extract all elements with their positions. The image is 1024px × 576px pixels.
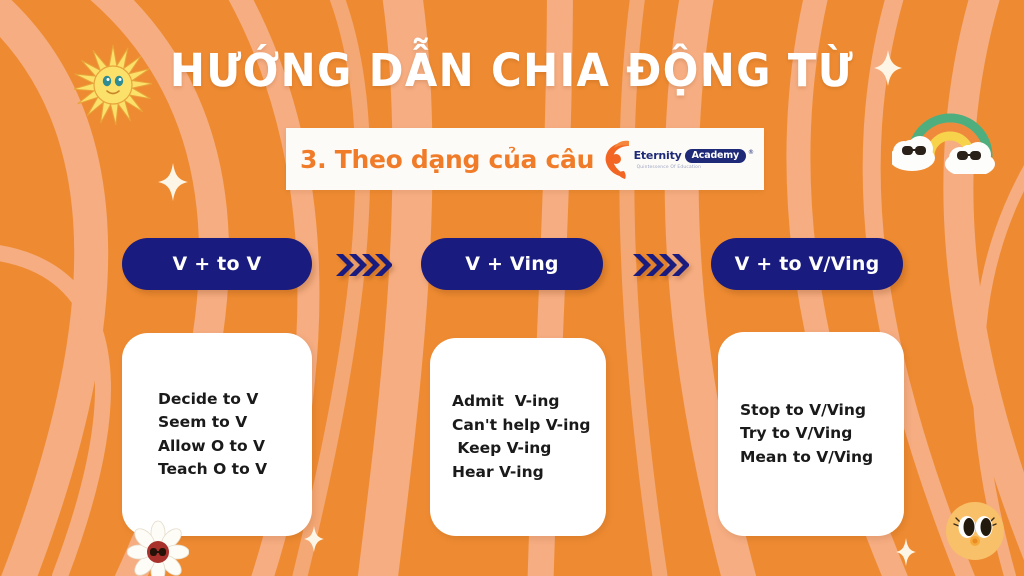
cloud-left [892, 136, 935, 171]
card-list-item: Hear V-ing [452, 461, 606, 485]
daisy-flower-icon [127, 518, 189, 576]
content-card-2: Admit V-ing Can't help V-ing Keep V-ing … [430, 338, 606, 536]
logo-sub-brand-pill: Academy [685, 149, 746, 163]
sparkle-star-icon [304, 526, 324, 552]
card-list-item: Stop to V/Ving [740, 399, 904, 423]
retro-face-icon [942, 498, 1008, 564]
category-pill-1[interactable]: V + to V [122, 238, 312, 290]
subtitle-text: 3. Theo dạng của câu [300, 145, 594, 174]
eternity-academy-logo: Eternity Academy ® Quintessence Of Educa… [602, 137, 754, 181]
sparkle-star-icon [896, 538, 916, 566]
card-list-item: Allow O to V [158, 435, 312, 459]
content-card-1: Decide to V Seem to V Allow O to V Teach… [122, 333, 312, 536]
card-list-item: Can't help V-ing [452, 414, 606, 438]
card-list-item: Try to V/Ving [740, 422, 904, 446]
logo-brand-text: Eternity [634, 149, 682, 162]
content-card-3: Stop to V/Ving Try to V/Ving Mean to V/V… [718, 332, 904, 536]
card-list-item: Teach O to V [158, 458, 312, 482]
logo-swoosh-icon [602, 138, 636, 180]
page-title: HƯỚNG DẪN CHIA ĐỘNG TỪ [36, 48, 988, 93]
category-pill-3[interactable]: V + to V/Ving [711, 238, 903, 290]
slide-canvas: HƯỚNG DẪN CHIA ĐỘNG TỪ 3. Theo dạng của … [0, 0, 1024, 576]
category-pill-2[interactable]: V + Ving [421, 238, 603, 290]
sparkle-star-icon [158, 163, 188, 201]
connector-arrows-2 [633, 252, 689, 278]
rainbow-clouds-icon [892, 94, 1008, 174]
logo-wordmark: Eternity Academy ® Quintessence Of Educa… [634, 149, 754, 170]
subtitle-bar: 3. Theo dạng của câu Eternity Academy ® … [286, 128, 764, 190]
double-chevron-right-icon [633, 252, 689, 278]
connector-arrows-1 [336, 252, 392, 278]
double-chevron-right-icon [336, 252, 392, 278]
card-list-item: Decide to V [158, 388, 312, 412]
logo-tagline: Quintessence Of Education [637, 165, 754, 170]
card-list-item: Admit V-ing [452, 390, 606, 414]
card-list-item: Keep V-ing [452, 437, 606, 461]
registered-trademark-icon: ® [748, 149, 754, 156]
card-list-item: Seem to V [158, 411, 312, 435]
logo-row-primary: Eternity Academy ® [634, 149, 754, 163]
card-list-item: Mean to V/Ving [740, 446, 904, 470]
sparkle-star-icon [874, 50, 902, 86]
cloud-right [945, 142, 995, 174]
smiling-sun-icon [74, 44, 152, 126]
